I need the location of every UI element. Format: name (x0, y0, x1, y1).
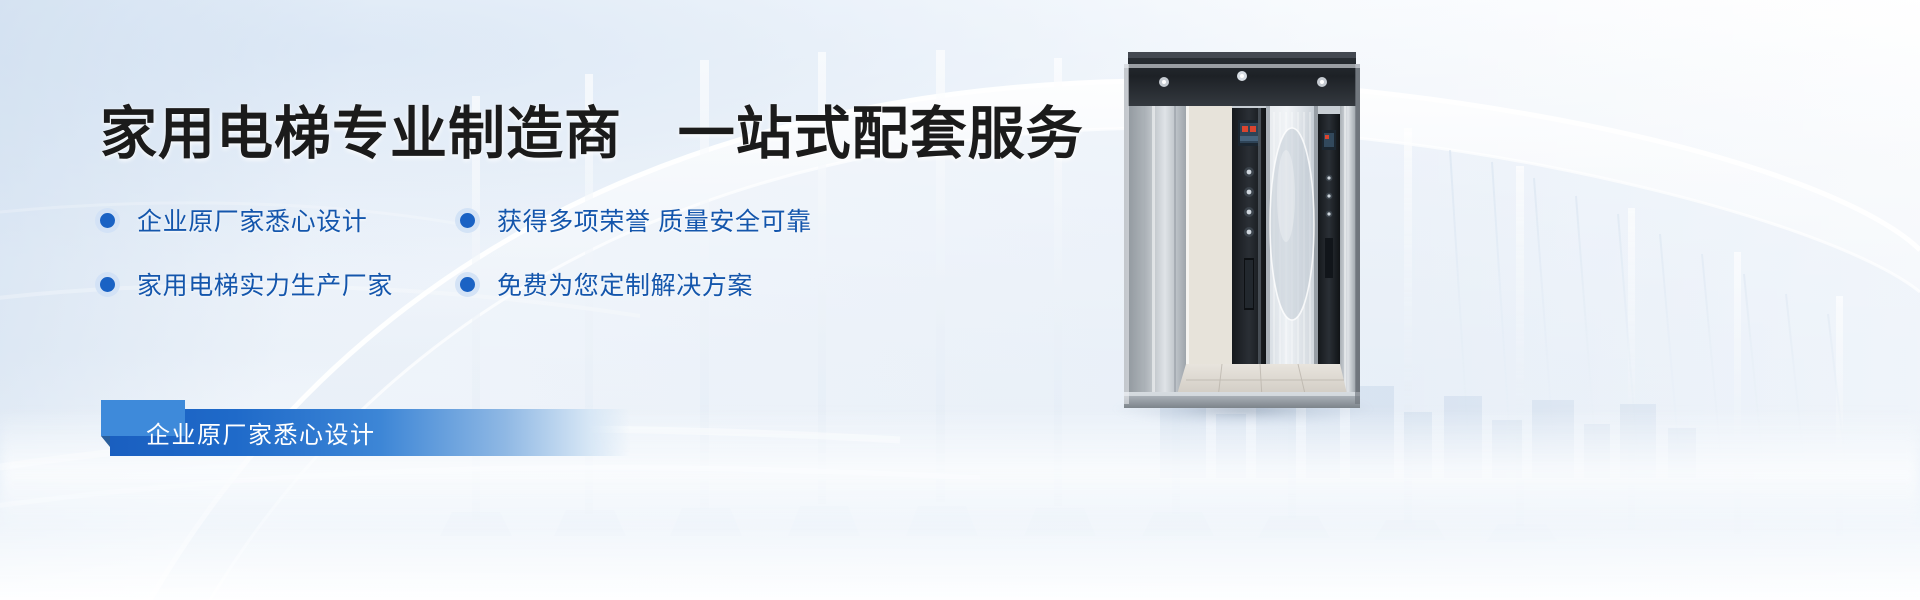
feature-label: 获得多项荣誉 质量安全可靠 (497, 202, 812, 238)
bullet-dot-icon (100, 213, 115, 228)
feature-label: 家用电梯实力生产厂家 (137, 266, 393, 302)
feature-list: 企业原厂家悉心设计 获得多项荣誉 质量安全可靠 家用电梯实力生产厂家 免费为您定… (100, 202, 1060, 302)
headline-part-2: 一站式配套服务 (678, 102, 1084, 166)
feature-item-1: 企业原厂家悉心设计 (100, 202, 460, 238)
ribbon-label: 企业原厂家悉心设计 (146, 415, 376, 450)
home-elevator-cabin-photo (1122, 46, 1362, 411)
bullet-dot-icon (460, 277, 475, 292)
headline-part-1: 家用电梯专业制造商 (100, 102, 622, 166)
feature-item-2: 获得多项荣誉 质量安全可靠 (460, 202, 1060, 238)
page-title: 家用电梯专业制造商 一站式配套服务 (100, 104, 1060, 164)
feature-label: 企业原厂家悉心设计 (137, 202, 367, 238)
banner-stage: 家用电梯专业制造商 一站式配套服务 企业原厂家悉心设计 获得多项荣誉 质量安全可… (0, 0, 1920, 600)
highlight-ribbon: 企业原厂家悉心设计 (110, 409, 630, 456)
feature-label: 免费为您定制解决方案 (497, 266, 753, 302)
highlight-ribbon-wrapper: 企业原厂家悉心设计 (110, 409, 630, 456)
bullet-dot-icon (100, 277, 115, 292)
feature-item-3: 家用电梯实力生产厂家 (100, 266, 460, 302)
bullet-dot-icon (460, 213, 475, 228)
feature-item-4: 免费为您定制解决方案 (460, 266, 1060, 302)
banner-copy: 家用电梯专业制造商 一站式配套服务 企业原厂家悉心设计 获得多项荣誉 质量安全可… (100, 104, 1060, 302)
